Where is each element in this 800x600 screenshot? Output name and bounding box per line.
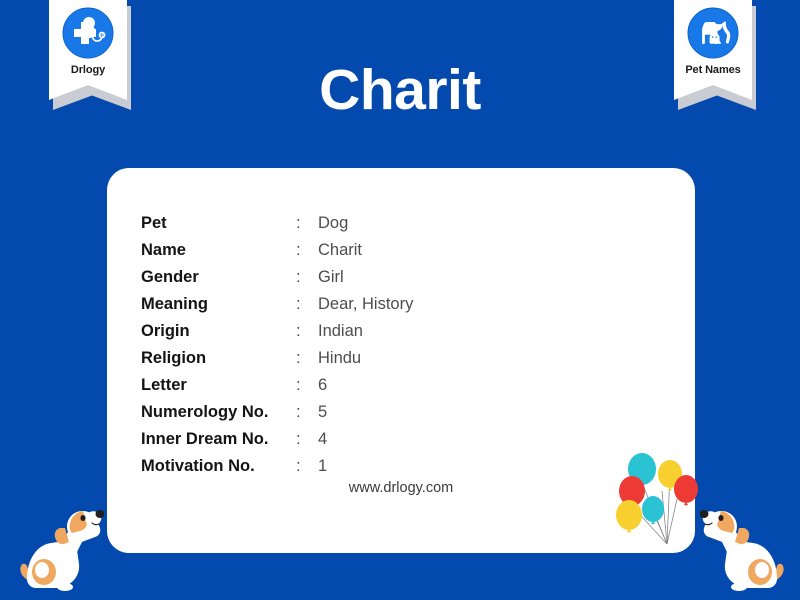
table-row: Religion : Hindu <box>141 345 413 372</box>
row-separator: : <box>296 372 318 399</box>
table-row: Motivation No. : 1 <box>141 453 413 480</box>
row-label: Religion <box>141 345 296 372</box>
row-separator: : <box>296 318 318 345</box>
badge-caption: Pet Names <box>685 64 740 76</box>
row-label: Name <box>141 237 296 264</box>
row-separator: : <box>296 426 318 453</box>
row-value: Hindu <box>318 345 413 372</box>
row-separator: : <box>296 453 318 480</box>
row-value: 4 <box>318 426 413 453</box>
row-value: 6 <box>318 372 413 399</box>
dog-cat-silhouette-icon <box>687 7 739 59</box>
table-body: Pet : Dog Name : Charit Gender : Girl Me… <box>141 210 413 480</box>
row-value: Dog <box>318 210 413 237</box>
table-row: Pet : Dog <box>141 210 413 237</box>
table-row: Name : Charit <box>141 237 413 264</box>
row-value: 5 <box>318 399 413 426</box>
row-label: Motivation No. <box>141 453 296 480</box>
row-label: Numerology No. <box>141 399 296 426</box>
row-separator: : <box>296 237 318 264</box>
row-value: Indian <box>318 318 413 345</box>
sitting-puppy-left-icon <box>18 484 104 600</box>
row-separator: : <box>296 264 318 291</box>
drlogy-medical-logo-icon: P <box>62 7 114 59</box>
row-label: Meaning <box>141 291 296 318</box>
table-row: Gender : Girl <box>141 264 413 291</box>
row-label: Inner Dream No. <box>141 426 296 453</box>
row-label: Gender <box>141 264 296 291</box>
row-label: Letter <box>141 372 296 399</box>
row-separator: : <box>296 210 318 237</box>
table-row: Origin : Indian <box>141 318 413 345</box>
badge-caption: Drlogy <box>71 64 105 76</box>
row-value: 1 <box>318 453 413 480</box>
row-value: Charit <box>318 237 413 264</box>
row-separator: : <box>296 291 318 318</box>
badge-body: Pet Names <box>674 0 752 100</box>
table-row: Numerology No. : 5 <box>141 399 413 426</box>
row-separator: : <box>296 345 318 372</box>
table-row: Inner Dream No. : 4 <box>141 426 413 453</box>
row-label: Origin <box>141 318 296 345</box>
table-row: Meaning : Dear, History <box>141 291 413 318</box>
row-label: Pet <box>141 210 296 237</box>
pet-name-details-table: Pet : Dog Name : Charit Gender : Girl Me… <box>141 210 413 480</box>
sitting-puppy-right-icon <box>700 484 786 600</box>
row-separator: : <box>296 399 318 426</box>
badge-body: P Drlogy <box>49 0 127 100</box>
balloon-cluster-icon <box>615 443 701 555</box>
website-url: www.drlogy.com <box>107 480 695 496</box>
table-row: Letter : 6 <box>141 372 413 399</box>
badge-pet-names[interactable]: Pet Names <box>674 0 752 100</box>
row-value: Girl <box>318 264 413 291</box>
row-value: Dear, History <box>318 291 413 318</box>
badge-drlogy[interactable]: P Drlogy <box>49 0 127 100</box>
info-card: Pet : Dog Name : Charit Gender : Girl Me… <box>107 168 695 553</box>
